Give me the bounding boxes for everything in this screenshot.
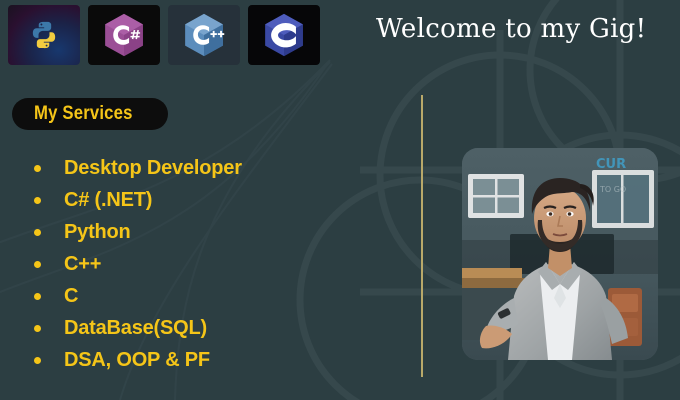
service-label: DataBase(SQL) xyxy=(64,317,207,340)
list-item: Desktop Developer xyxy=(34,152,242,184)
portrait-photo: CUR TO GO xyxy=(462,148,658,360)
services-list: Desktop Developer C# (.NET) Python C++ C… xyxy=(34,152,242,376)
service-label: C# (.NET) xyxy=(64,189,152,212)
svg-text:TO GO: TO GO xyxy=(599,185,626,194)
python-logo-icon xyxy=(29,20,59,50)
service-label: C++ xyxy=(64,253,101,276)
bullet-icon xyxy=(34,229,41,236)
list-item: C xyxy=(34,280,242,312)
page-title: Welcome to my Gig! xyxy=(376,14,646,44)
list-item: DataBase(SQL) xyxy=(34,312,242,344)
service-label: C xyxy=(64,285,78,308)
service-label: Python xyxy=(64,221,131,244)
gold-vertical-rule xyxy=(421,95,423,377)
my-services-badge: My Services xyxy=(12,98,168,130)
python-logo-tile xyxy=(8,5,80,65)
my-services-label: My Services xyxy=(34,103,133,125)
bullet-icon xyxy=(34,325,41,332)
c-logo-tile xyxy=(248,5,320,65)
language-logo-row xyxy=(8,5,320,65)
bullet-icon xyxy=(34,261,41,268)
bullet-icon xyxy=(34,165,41,172)
list-item: C# (.NET) xyxy=(34,184,242,216)
service-label: DSA, OOP & PF xyxy=(64,349,210,372)
service-label: Desktop Developer xyxy=(64,157,242,180)
gig-banner: My Services Desktop Developer C# (.NET) … xyxy=(0,0,680,400)
csharp-logo-icon xyxy=(101,12,147,58)
left-panel: My Services Desktop Developer C# (.NET) … xyxy=(0,0,340,400)
bullet-icon xyxy=(34,357,41,364)
cplusplus-logo-icon xyxy=(181,12,227,58)
cplusplus-logo-tile xyxy=(168,5,240,65)
svg-text:CUR: CUR xyxy=(596,157,626,172)
list-item: DSA, OOP & PF xyxy=(34,344,242,376)
bullet-icon xyxy=(34,197,41,204)
list-item: C++ xyxy=(34,248,242,280)
list-item: Python xyxy=(34,216,242,248)
c-logo-icon xyxy=(261,12,307,58)
bullet-icon xyxy=(34,293,41,300)
csharp-logo-tile xyxy=(88,5,160,65)
